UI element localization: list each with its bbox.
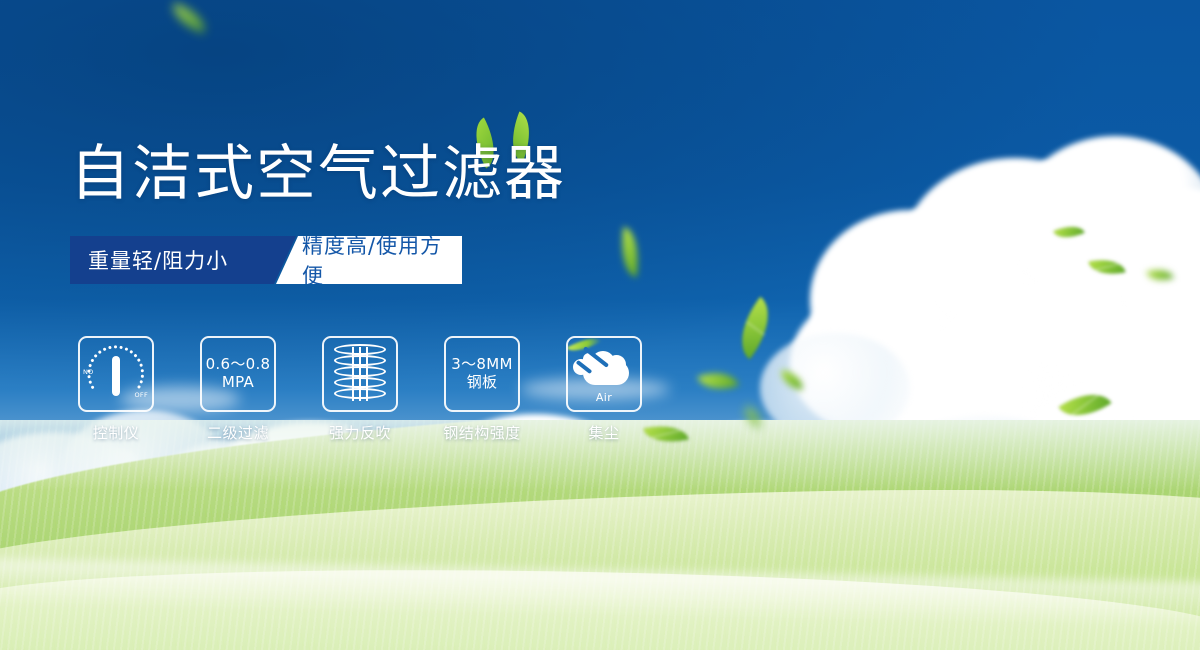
air-caption: Air [571, 391, 637, 404]
feature-box-steel[interactable]: 3～8MM 钢板 [444, 336, 520, 412]
subtitle-left-segment: 重量轻/阻力小 [70, 236, 296, 284]
subtitle-bar: 重量轻/阻力小 精度高/使用方便 [70, 236, 462, 284]
feature-box-control[interactable]: NO OFF [78, 336, 154, 412]
gauge-label-no: NO [83, 368, 94, 376]
grass-field [0, 420, 1200, 650]
feature-label-control: 控制仪 [93, 422, 140, 443]
feature-label-steel: 钢结构强度 [443, 422, 521, 443]
feature-item-dust[interactable]: Air 集尘 [558, 336, 650, 443]
feature-box-dust[interactable]: Air [566, 336, 642, 412]
air-cloud-icon: Air [571, 345, 637, 403]
page-title: 自洁式空气过滤器 [70, 142, 566, 207]
gauge-needle [112, 356, 120, 396]
feature-list: NO OFF 控制仪 0.6～0.8 MPA 二级过滤 [70, 336, 650, 443]
feature-item-filter[interactable]: 0.6～0.8 MPA 二级过滤 [192, 336, 284, 443]
product-hero-banner: 自洁式空气过滤器 重量轻/阻力小 精度高/使用方便 [0, 0, 1200, 650]
feature-item-steel[interactable]: 3～8MM 钢板 钢结构强度 [436, 336, 528, 443]
feature-box-filter[interactable]: 0.6～0.8 MPA [200, 336, 276, 412]
feature-label-dust: 集尘 [588, 422, 619, 443]
gauge-icon: NO OFF [82, 340, 150, 408]
gauge-label-off: OFF [135, 391, 149, 399]
feature-label-blowback: 强力反吹 [329, 422, 391, 443]
coil-icon [334, 344, 386, 404]
feature-item-control[interactable]: NO OFF 控制仪 [70, 336, 162, 443]
feature-box-blowback[interactable] [322, 336, 398, 412]
steel-icon: 3～8MM 钢板 [451, 356, 512, 391]
subtitle-right-segment: 精度高/使用方便 [276, 236, 462, 284]
feature-label-filter: 二级过滤 [207, 422, 269, 443]
feature-item-blowback[interactable]: 强力反吹 [314, 336, 406, 443]
pressure-icon: 0.6～0.8 MPA [206, 356, 271, 391]
